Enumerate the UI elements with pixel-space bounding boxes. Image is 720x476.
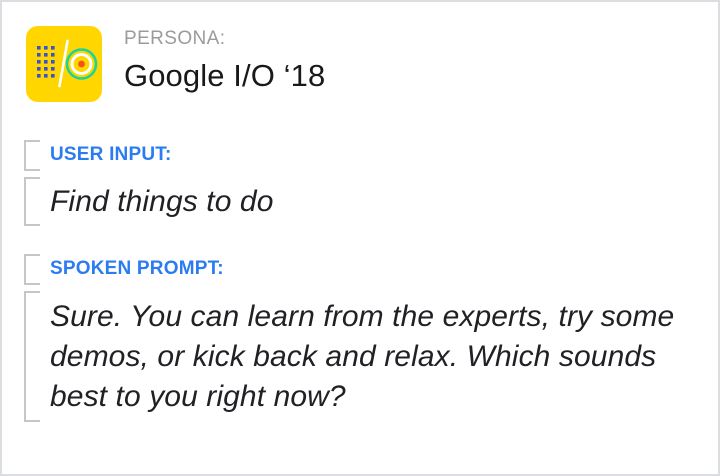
spoken-prompt-text-wrap: Sure. You can learn from the experts, tr…: [40, 291, 718, 423]
user-input-label: USER INPUT:: [50, 144, 172, 167]
section-user-input: USER INPUT: Find things to do: [24, 140, 274, 226]
section-spoken-prompt: SPOKEN PROMPT: Sure. You can learn from …: [24, 254, 718, 422]
persona-dialogue-card: PERSONA: Google I/O ‘18 USER INPUT: Find…: [0, 0, 720, 476]
persona-label: PERSONA:: [124, 28, 325, 51]
spoken-prompt-label-wrap: SPOKEN PROMPT:: [40, 254, 224, 285]
google-io-logo-icon: [26, 26, 102, 102]
persona-logo: [26, 26, 102, 102]
center-dot-icon: [78, 61, 85, 68]
bracket-icon: [24, 140, 40, 171]
user-input-text: Find things to do: [50, 185, 274, 218]
bracket-icon: [24, 254, 40, 285]
user-input-text-bracket-row: Find things to do: [24, 177, 274, 227]
spoken-prompt-label-bracket-row: SPOKEN PROMPT:: [24, 254, 718, 285]
persona-title: Google I/O ‘18: [124, 58, 325, 94]
spoken-prompt-text-bracket-row: Sure. You can learn from the experts, tr…: [24, 291, 718, 423]
persona-header: PERSONA: Google I/O ‘18: [26, 26, 325, 102]
bracket-icon: [24, 291, 40, 423]
persona-text-group: PERSONA: Google I/O ‘18: [124, 26, 325, 93]
bracket-icon: [24, 177, 40, 227]
user-input-label-wrap: USER INPUT:: [40, 140, 172, 171]
user-input-label-bracket-row: USER INPUT:: [24, 140, 274, 171]
spoken-prompt-text: Sure. You can learn from the experts, tr…: [50, 300, 674, 413]
spoken-prompt-label: SPOKEN PROMPT:: [50, 258, 224, 281]
dot-grid-icon: [37, 46, 55, 78]
user-input-text-wrap: Find things to do: [40, 177, 274, 227]
